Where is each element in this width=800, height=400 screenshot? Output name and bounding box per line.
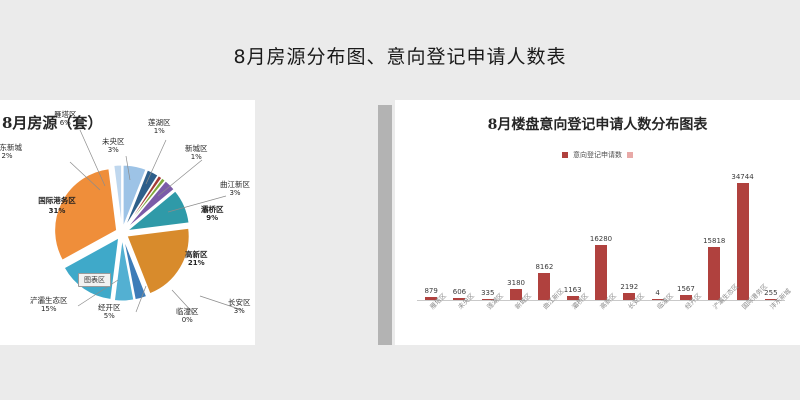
pie-label-qujiangxinqu: 曲江新区3%: [220, 180, 250, 198]
pie-chart-plot-area[interactable]: 沣东新城2% 雁塔区6% 未央区3% 莲湖区1% 新城区1% 曲江新区3% 灞桥…: [0, 100, 255, 345]
bar-column[interactable]: 8162: [530, 172, 558, 300]
pie-label-lianhuqu: 莲湖区1%: [148, 118, 171, 136]
legend-swatch-icon: [562, 152, 568, 158]
legend-swatch-secondary-icon: [627, 152, 633, 158]
pie-label-changanqu: 长安区3%: [228, 298, 251, 316]
pie-label-xinchengqu: 新城区1%: [185, 144, 208, 162]
bar-column[interactable]: 3180: [502, 172, 530, 300]
pie-label-gaoxinqu: 高新区21%: [185, 250, 208, 268]
pie-label-guojigangwuqu: 国际港务区31%: [38, 196, 76, 216]
pie-chart-panel: 8月房源（套） 沣东新城2% 雁塔区6% 未央区3% 莲湖区1% 新城区1% 曲…: [0, 100, 255, 345]
legend-label: 意向登记申请数: [573, 150, 622, 160]
pie-label-yantaqu: 雁塔区6%: [54, 110, 77, 128]
pie-label-weiyangqu: 未央区3%: [102, 137, 125, 155]
bar-rect[interactable]: [737, 183, 749, 300]
bar-column[interactable]: 15818: [700, 172, 728, 300]
bar-chart-plot-area[interactable]: 8796063353180816211631628021924156715818…: [417, 172, 785, 300]
bar-chart-legend[interactable]: 意向登记申请数: [395, 150, 800, 160]
page-title: 8月房源分布图、意向登记申请人数表: [0, 42, 800, 69]
bar-rect[interactable]: [708, 247, 720, 300]
bar-column[interactable]: 879: [417, 172, 445, 300]
pie-label-fengdongxincheng: 沣东新城2%: [0, 143, 22, 161]
chart-area-tooltip: 图表区: [78, 273, 111, 287]
bar-column[interactable]: 16280: [587, 172, 615, 300]
bar-column[interactable]: 4: [643, 172, 671, 300]
pie-leader-line: [158, 160, 202, 196]
pie-label-baqiaoqu: 灞桥区9%: [201, 205, 224, 223]
panel-divider: [378, 105, 392, 345]
pie-label-chanbashengtaiqu: 浐灞生态区15%: [30, 296, 68, 314]
bar-chart-panel: 8月楼盘意向登记申请人数分布图表 意向登记申请数 879606335318081…: [395, 100, 800, 345]
bar-column[interactable]: 606: [445, 172, 473, 300]
pie-label-jingkaiqu: 经开区5%: [98, 303, 121, 321]
pie-label-lintongqu: 临潼区0%: [176, 307, 199, 325]
bar-rect[interactable]: [595, 245, 607, 300]
bar-column[interactable]: 2192: [615, 172, 643, 300]
bar-chart-title: 8月楼盘意向登记申请人数分布图表: [395, 114, 800, 134]
